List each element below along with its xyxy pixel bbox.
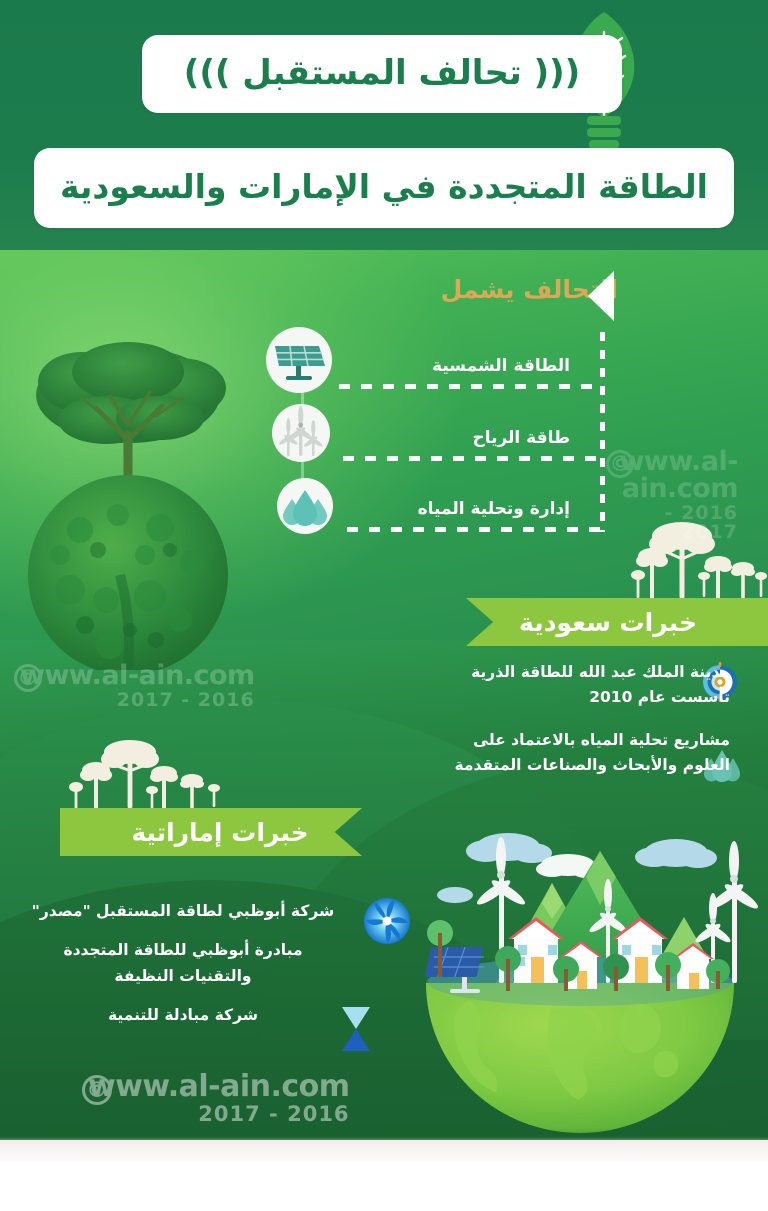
alliance-item-label-water: إدارة وتحلية المياه <box>418 499 570 519</box>
tree-on-globe-illustration <box>10 300 260 670</box>
alliance-item-label-wind: طاقة الرياح <box>472 428 570 448</box>
alliance-dashed-line-1 <box>339 384 601 389</box>
poster-title-card: ((( تحالف المستقبل ))) <box>142 35 622 113</box>
saudi-entry-1-line-1: مدينة الملك عبد الله للطاقة الذرية <box>400 660 730 685</box>
emirati-entry-1: شركة أبوظبي لطاقة المستقبل "مصدر" <box>8 898 358 924</box>
page-title: ((( تحالف المستقبل ))) <box>184 53 580 96</box>
emirati-entry-1-line-1: شركة أبوظبي لطاقة المستقبل "مصدر" <box>8 898 358 924</box>
emirati-content-block: شركة أبوظبي لطاقة المستقبل "مصدر" مبادرة… <box>8 898 358 1041</box>
infographic-poster: ((( تحالف المستقبل ))) الطاقة المتجددة ف… <box>0 0 768 1211</box>
emirati-entry-3-line-1: شركة مبادلة للتنمية <box>8 1002 358 1028</box>
solar-panel-icon <box>266 327 332 393</box>
saudi-banner: خبرات سعودية <box>466 598 768 646</box>
tree-silhouettes-decoration <box>630 520 768 602</box>
alliance-dashed-line-3 <box>347 527 601 532</box>
tree-silhouettes-decoration <box>52 740 227 812</box>
masdar-logo-icon <box>363 897 411 945</box>
arrow-left-icon <box>588 271 614 321</box>
eco-village-globe-illustration <box>400 825 760 1140</box>
saudi-entry-1-line-2: تأسست عام 2010 <box>400 685 730 710</box>
emirati-entry-2-line-1: مبادرة أبوظبي للطاقة المتجددة <box>8 937 358 963</box>
saudi-entry-2-line-2: العلوم والأبحاث والصناعات المتقدمة <box>400 753 730 778</box>
emirati-entry-3: شركة مبادلة للتنمية <box>8 1002 358 1028</box>
emirati-entry-2: مبادرة أبوظبي للطاقة المتجددة والتقنيات … <box>8 937 358 989</box>
emirati-banner-label: خبرات إماراتية <box>131 818 308 847</box>
wind-turbine-icon <box>272 404 330 462</box>
emirati-banner: خبرات إماراتية <box>60 808 362 856</box>
water-drops-icon <box>277 478 333 534</box>
poster-subtitle-card: الطاقة المتجددة في الإمارات والسعودية <box>34 148 734 228</box>
page-subtitle: الطاقة المتجددة في الإمارات والسعودية <box>60 167 708 210</box>
alliance-vertical-dashed-line <box>600 332 605 532</box>
saudi-content-block: مدينة الملك عبد الله للطاقة الذرية تأسست… <box>400 660 730 796</box>
saudi-banner-label: خبرات سعودية <box>519 608 697 637</box>
saudi-entry-2: مشاريع تحلية المياه بالاعتماد على العلوم… <box>400 728 730 778</box>
alliance-item-label-solar: الطاقة الشمسية <box>432 356 570 376</box>
saudi-entry-1: مدينة الملك عبد الله للطاقة الذرية تأسست… <box>400 660 730 710</box>
alliance-dashed-line-2 <box>343 456 601 461</box>
footer-bar: alain_4u alain.4u alai <box>0 1140 768 1211</box>
emirati-entry-2-line-2: والتقنيات النظيفة <box>8 963 358 989</box>
saudi-entry-2-line-1: مشاريع تحلية المياه بالاعتماد على <box>400 728 730 753</box>
